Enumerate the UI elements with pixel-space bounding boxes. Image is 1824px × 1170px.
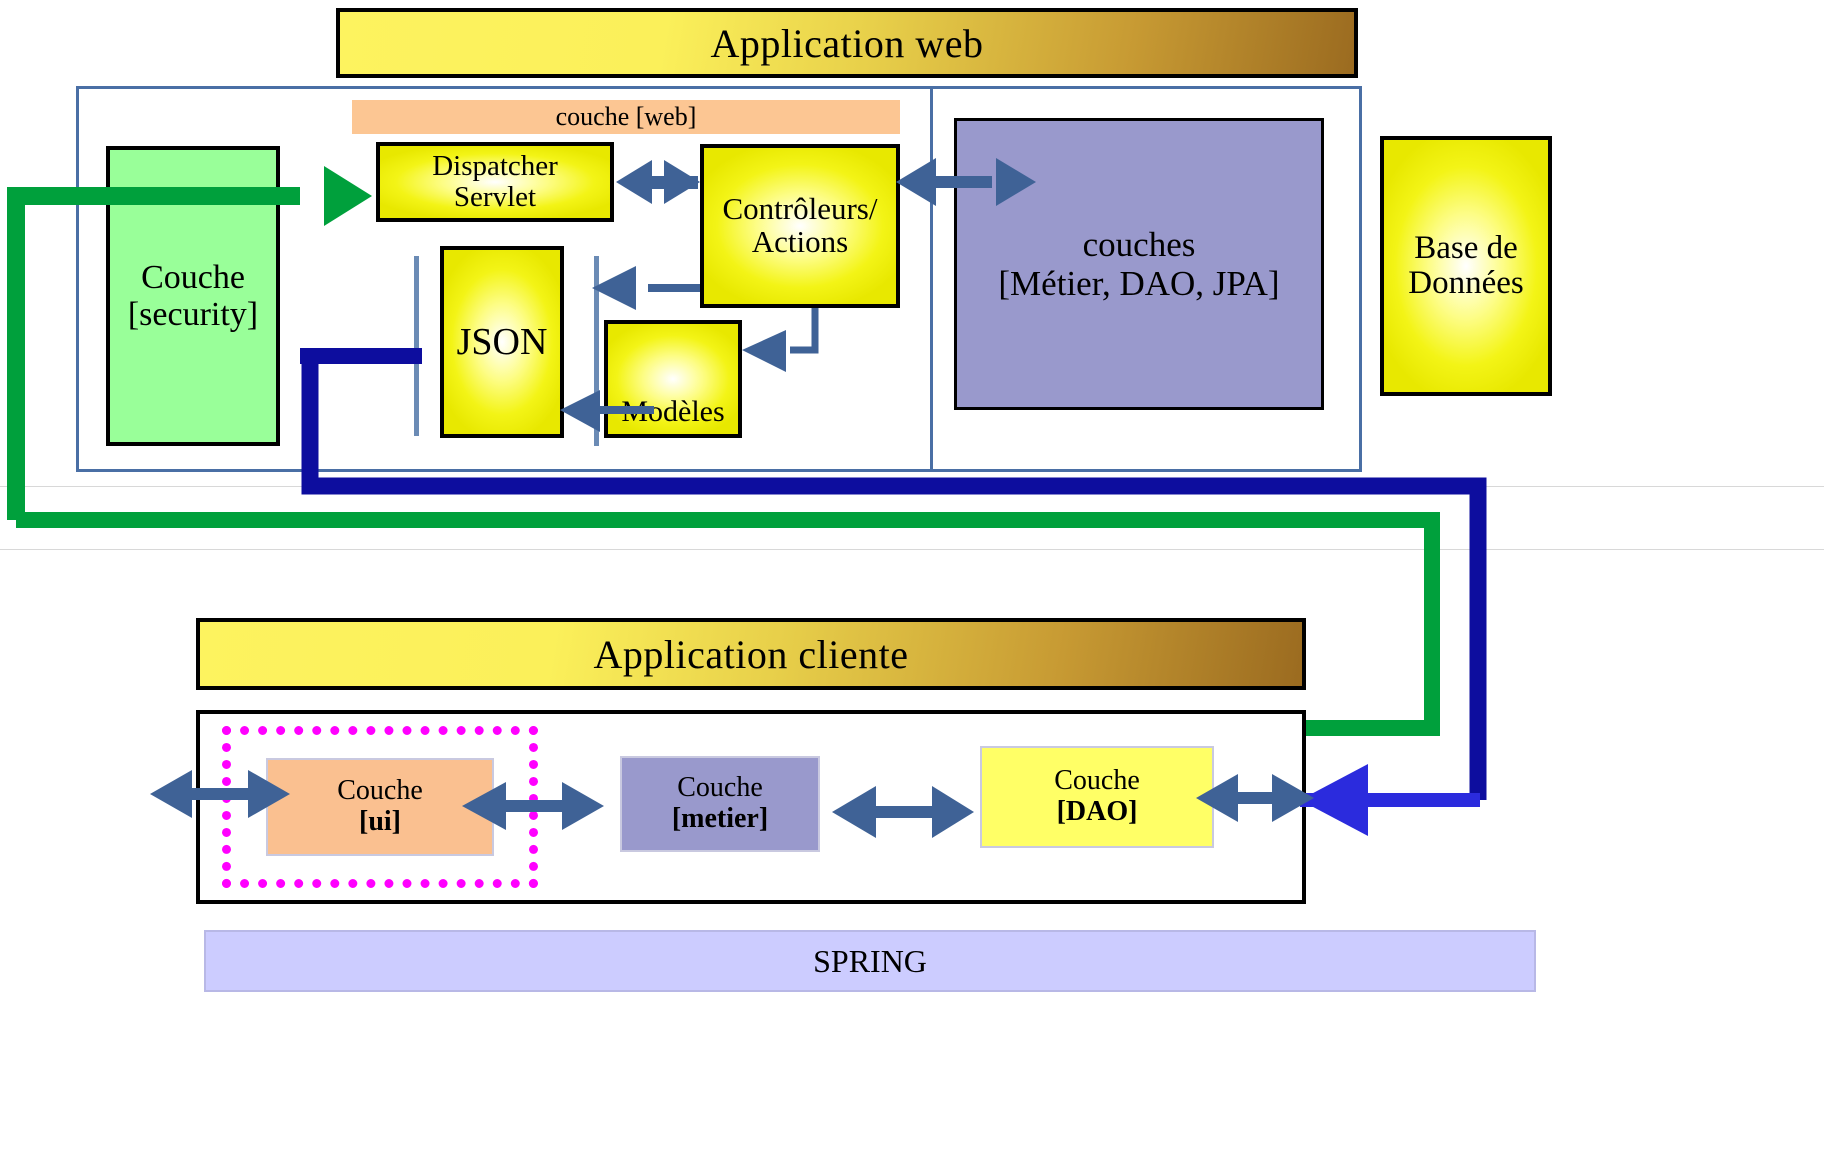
controllers-actions-box[interactable]: Contrôleurs/ Actions (700, 144, 900, 308)
security-label-line2: [security] (128, 296, 258, 333)
application-cliente-banner: Application cliente (196, 618, 1306, 690)
couche-security-box[interactable]: Couche [security] (106, 146, 280, 446)
couches-metier-dao-jpa-box[interactable]: couches [Métier, DAO, JPA] (954, 118, 1324, 410)
couche-web-bar: couche [web] (352, 100, 900, 134)
controllers-label-line2: Actions (752, 226, 848, 259)
arrow-blue-into-client (1300, 764, 1480, 836)
ui-label-line1: Couche (337, 776, 423, 807)
dao-label-line2: [DAO] (1057, 797, 1138, 828)
couches-label-line1: couches (1083, 225, 1196, 264)
metier-label-line1: Couche (677, 773, 763, 804)
dispatcher-label-line2: Servlet (454, 182, 536, 213)
web-app-divider (930, 88, 933, 470)
couches-label-line2: [Métier, DAO, JPA] (998, 264, 1279, 303)
application-web-banner: Application web (336, 8, 1358, 78)
couche-metier-box[interactable]: Couche [metier] (620, 756, 820, 852)
security-label-line1: Couche (141, 259, 245, 296)
json-left-guide (414, 256, 419, 436)
modeles-label: Modèles (621, 396, 724, 428)
slide-rule-top (0, 486, 1824, 487)
dispatcher-label-line1: Dispatcher (432, 151, 558, 182)
controllers-label-line1: Contrôleurs/ (723, 193, 878, 226)
json-label: JSON (457, 322, 548, 362)
dao-label-line1: Couche (1054, 766, 1140, 797)
base-de-donnees-box[interactable]: Base de Données (1380, 136, 1552, 396)
application-cliente-title: Application cliente (594, 631, 909, 678)
spring-bar: SPRING (204, 930, 1536, 992)
architecture-diagram: Application web couche [web] Couche [sec… (0, 0, 1824, 1170)
database-label-line1: Base de (1414, 231, 1518, 266)
database-label-line2: Données (1408, 266, 1523, 301)
couche-web-label: couche [web] (556, 102, 697, 132)
json-right-guide (594, 256, 599, 446)
couche-ui-box[interactable]: Couche [ui] (266, 758, 494, 856)
slide-rule-bottom (0, 549, 1824, 550)
application-web-title: Application web (711, 20, 984, 67)
metier-label-line2: [metier] (672, 804, 768, 835)
spring-label: SPRING (813, 943, 927, 980)
json-box[interactable]: JSON (440, 246, 564, 438)
modeles-box[interactable]: Modèles (604, 320, 742, 438)
dispatcher-servlet-box[interactable]: Dispatcher Servlet (376, 142, 614, 222)
couche-dao-box[interactable]: Couche [DAO] (980, 746, 1214, 848)
ui-label-line2: [ui] (359, 807, 401, 838)
